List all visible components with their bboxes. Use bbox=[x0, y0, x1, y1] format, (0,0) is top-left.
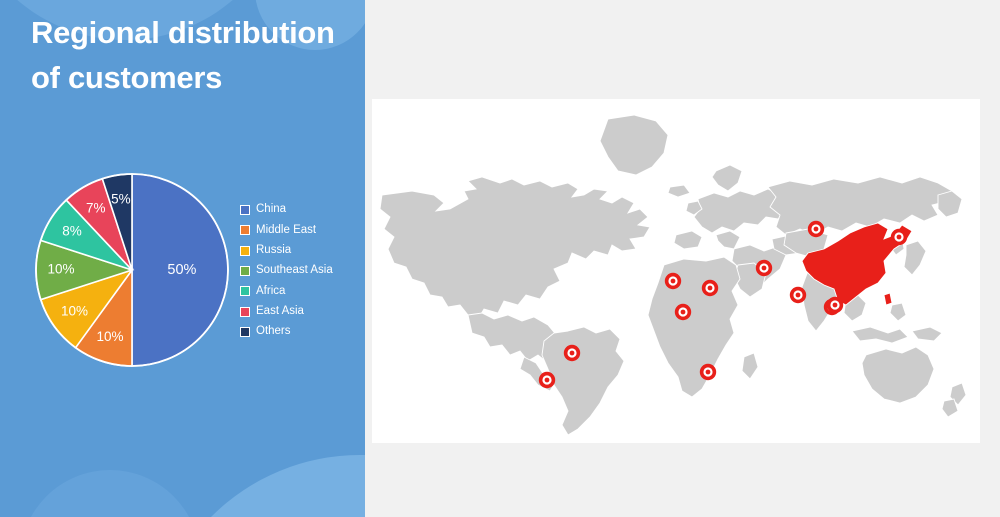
slide-root: Regional distribution of customers 50%10… bbox=[0, 0, 1000, 517]
marker-center-dot bbox=[706, 370, 711, 375]
pie-slice-label: 7% bbox=[86, 200, 106, 215]
legend-swatch-icon bbox=[240, 266, 250, 276]
legend-item-label: Others bbox=[256, 326, 291, 338]
legend-item-southeast-asia[interactable]: Southeast Asia bbox=[240, 261, 360, 281]
marker-morocco[interactable] bbox=[665, 273, 681, 289]
landmass-australia bbox=[862, 347, 934, 403]
legend-item-label: China bbox=[256, 204, 286, 216]
landmass-japan bbox=[904, 241, 926, 275]
legend-item-middle-east[interactable]: Middle East bbox=[240, 220, 360, 240]
landmass-north-america bbox=[380, 177, 650, 319]
marker-center-dot bbox=[897, 235, 902, 240]
legend-swatch-icon bbox=[240, 246, 250, 256]
landmass-indonesia bbox=[852, 327, 908, 343]
legend-item-china[interactable]: China bbox=[240, 200, 360, 220]
legend-item-label: Africa bbox=[256, 286, 285, 298]
pie-slice-label: 10% bbox=[96, 329, 123, 344]
page-title: Regional distribution of customers bbox=[31, 10, 351, 100]
pie-slice-label: 10% bbox=[47, 262, 74, 277]
chart-legend: ChinaMiddle EastRussiaSoutheast AsiaAfri… bbox=[240, 200, 360, 342]
right-content-area bbox=[365, 0, 1000, 517]
legend-item-label: East Asia bbox=[256, 306, 304, 318]
landmass-africa bbox=[648, 257, 740, 397]
legend-swatch-icon bbox=[240, 205, 250, 215]
marker-south-china[interactable] bbox=[827, 297, 843, 313]
world-map-svg bbox=[372, 99, 980, 443]
marker-pakistan[interactable] bbox=[790, 287, 806, 303]
legend-item-label: Russia bbox=[256, 245, 291, 257]
landmass-scandinavia bbox=[712, 165, 742, 191]
landmass-iceland bbox=[668, 185, 690, 197]
landmass-philippines bbox=[890, 303, 906, 321]
legend-item-africa[interactable]: Africa bbox=[240, 281, 360, 301]
marker-center-dot bbox=[708, 286, 713, 291]
legend-item-east-asia[interactable]: East Asia bbox=[240, 301, 360, 321]
marker-center-dot bbox=[796, 293, 801, 298]
landmass-taiwan-highlight bbox=[884, 293, 892, 305]
pie-slice-label: 5% bbox=[111, 191, 131, 206]
landmass-europe bbox=[694, 189, 786, 233]
pie-slice-label: 50% bbox=[167, 262, 196, 278]
marker-zambia[interactable] bbox=[700, 364, 716, 380]
world-map-card bbox=[372, 99, 980, 443]
pie-slice-label: 8% bbox=[62, 223, 82, 238]
marker-center-dot bbox=[833, 303, 838, 308]
legend-item-russia[interactable]: Russia bbox=[240, 241, 360, 261]
landmass-greenland bbox=[600, 115, 668, 175]
decorative-circle-bottom-left bbox=[20, 470, 200, 517]
marker-brazil[interactable] bbox=[564, 345, 580, 361]
landmass-new-guinea bbox=[912, 327, 942, 341]
legend-item-others[interactable]: Others bbox=[240, 322, 360, 342]
legend-swatch-icon bbox=[240, 225, 250, 235]
legend-item-label: Middle East bbox=[256, 225, 316, 237]
legend-swatch-icon bbox=[240, 286, 250, 296]
landmass-madagascar bbox=[742, 353, 758, 379]
landmass-italy-balkans bbox=[716, 231, 740, 249]
legend-item-label: Southeast Asia bbox=[256, 265, 333, 277]
marker-nigeria[interactable] bbox=[675, 304, 691, 320]
marker-egypt[interactable] bbox=[702, 280, 718, 296]
marker-chile[interactable] bbox=[539, 372, 555, 388]
landmass-iberia bbox=[674, 231, 702, 249]
left-blue-panel: Regional distribution of customers 50%10… bbox=[0, 0, 365, 517]
decorative-circle-bottom bbox=[150, 455, 365, 517]
marker-center-dot bbox=[762, 266, 767, 271]
pie-chart-svg: 50%10%10%10%8%7%5% bbox=[31, 169, 233, 371]
landmass-russia bbox=[768, 177, 952, 235]
marker-center-dot bbox=[671, 279, 676, 284]
marker-korea[interactable] bbox=[891, 229, 907, 245]
marker-kazakhstan[interactable] bbox=[808, 221, 824, 237]
legend-swatch-icon bbox=[240, 327, 250, 337]
marker-center-dot bbox=[570, 351, 575, 356]
marker-center-dot bbox=[545, 378, 550, 383]
marker-center-dot bbox=[814, 227, 819, 232]
landmass-kamchatka bbox=[938, 191, 962, 217]
marker-center-dot bbox=[681, 310, 686, 315]
legend-swatch-icon bbox=[240, 307, 250, 317]
marker-iran[interactable] bbox=[756, 260, 772, 276]
pie-chart: 50%10%10%10%8%7%5% bbox=[31, 169, 233, 371]
pie-slice-label: 10% bbox=[61, 303, 88, 318]
